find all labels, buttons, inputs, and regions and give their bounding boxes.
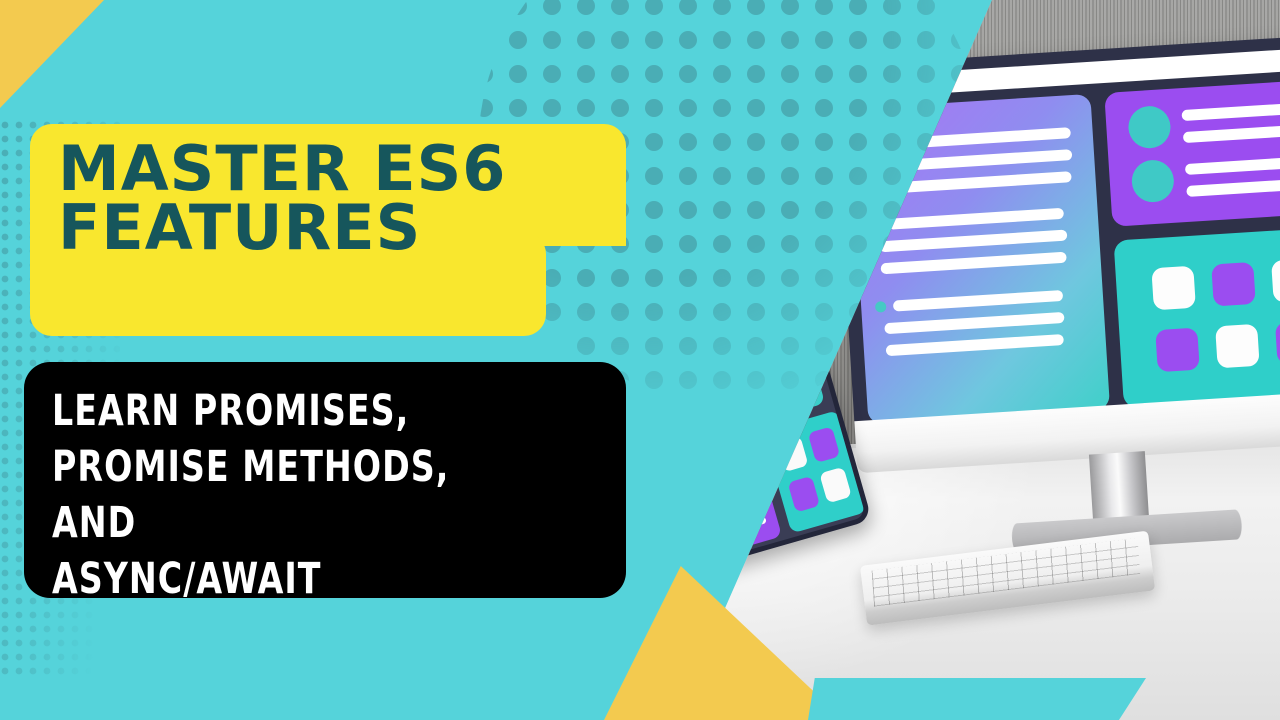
thumbnail-canvas: MASTER ES6 FEATURES LEARN PROMISES, PROM… (0, 0, 1280, 720)
screen-card-top-right (1104, 78, 1280, 227)
photo-teal-trapezoid (808, 678, 1146, 720)
subheadline-line-3: ASYNC/AWAIT (52, 552, 534, 608)
subheadline-line-2: PROMISE METHODS, AND (52, 440, 534, 552)
headline-text: MASTER ES6 FEATURES (58, 140, 628, 258)
subheadline-line-1: LEARN PROMISES, (52, 384, 534, 440)
subheadline-block: LEARN PROMISES, PROMISE METHODS, AND ASY… (24, 362, 626, 598)
screen-card-bottom-right (1114, 226, 1280, 408)
headline-block: MASTER ES6 FEATURES (30, 124, 626, 336)
subheadline-text: LEARN PROMISES, PROMISE METHODS, AND ASY… (52, 384, 534, 608)
headline-line-2: FEATURES (58, 199, 628, 258)
